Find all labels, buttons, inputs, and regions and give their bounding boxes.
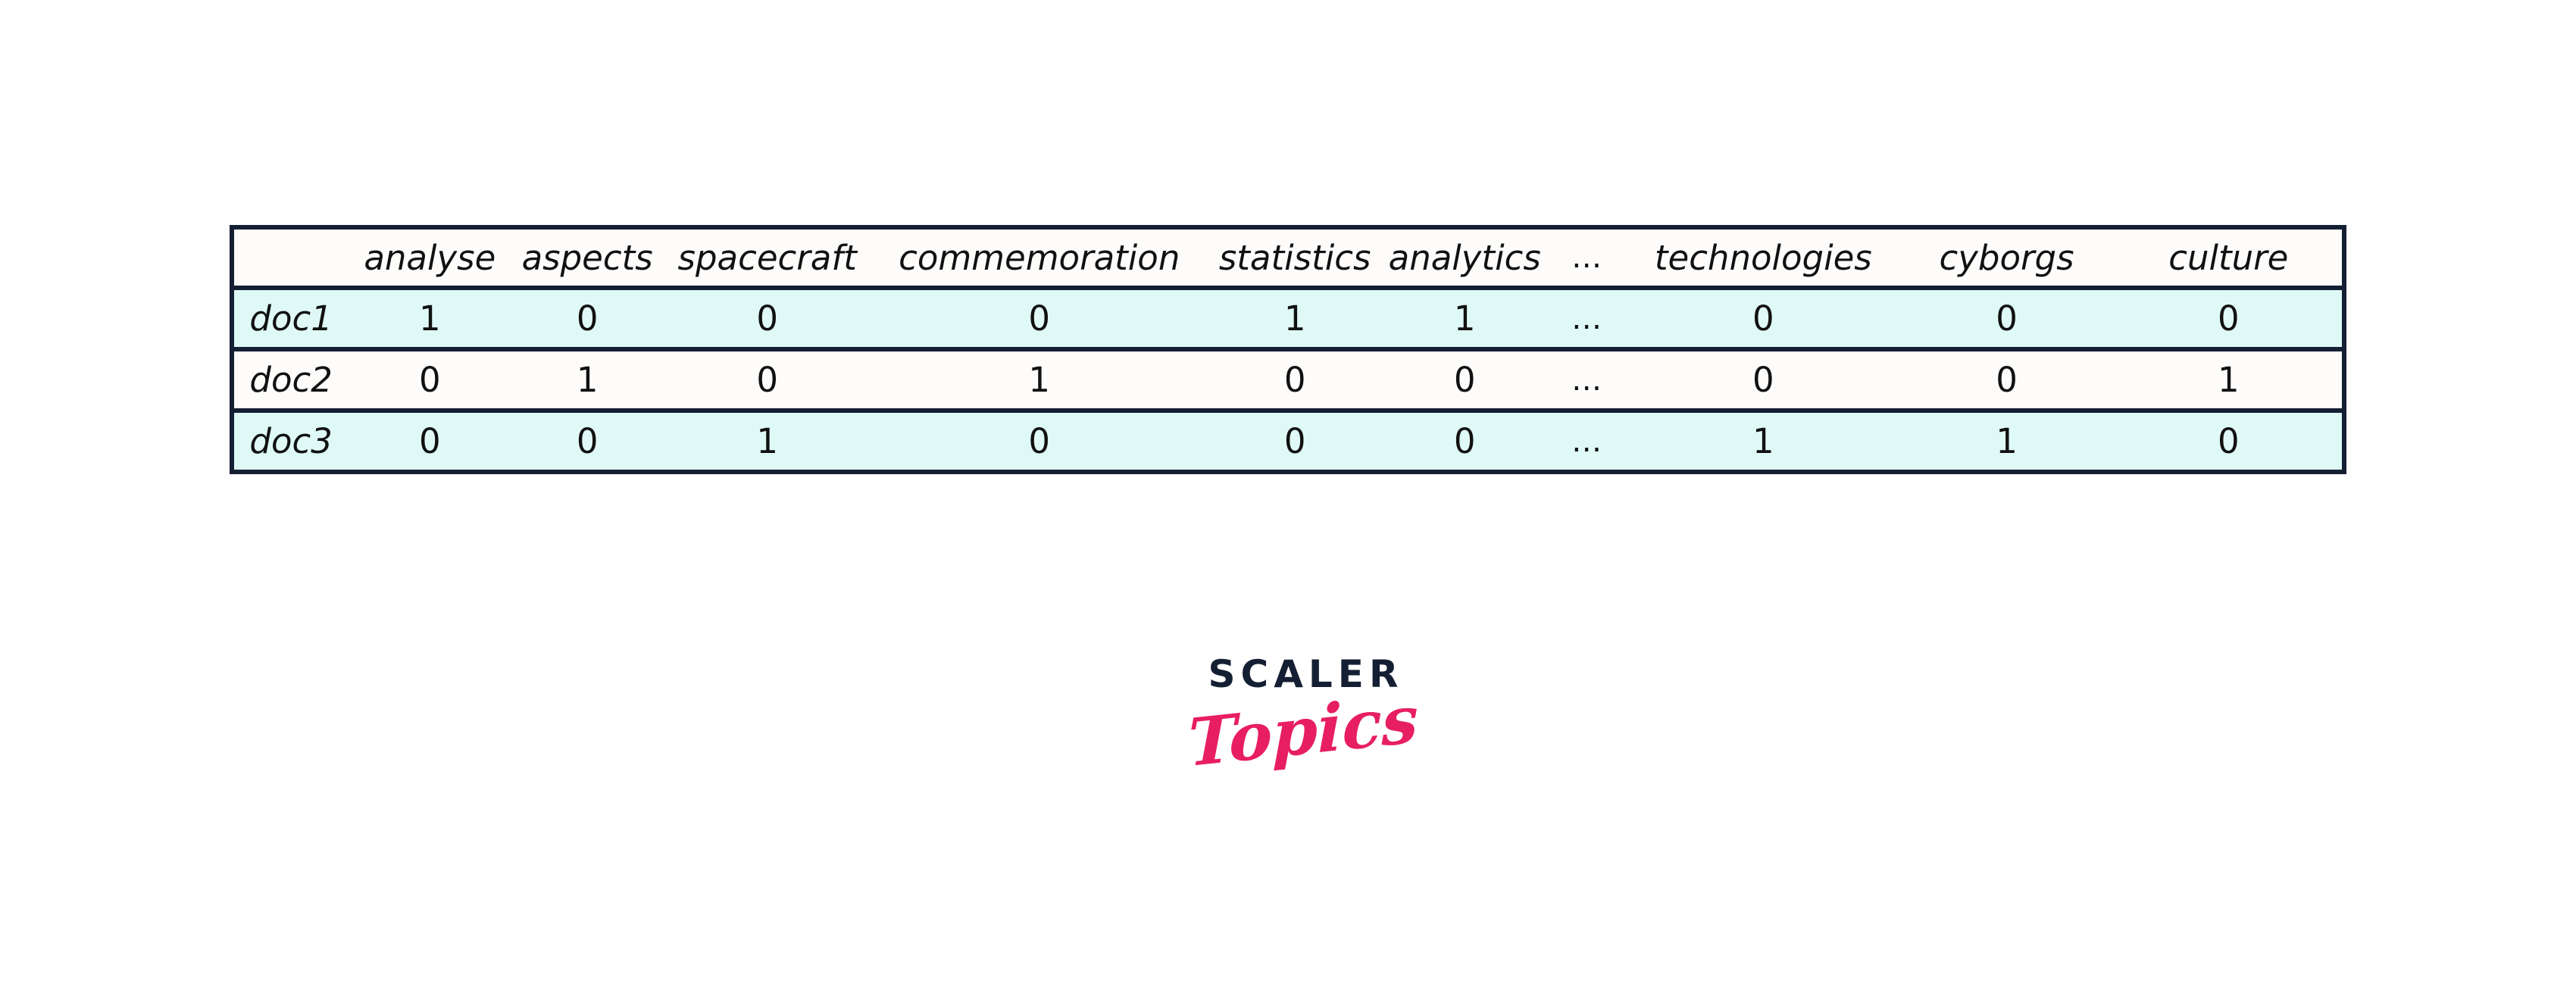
column-header-commemoration: commemoration bbox=[871, 227, 1207, 288]
table-row: doc1 1 0 0 0 1 1 … 0 0 0 bbox=[232, 288, 2344, 349]
cell-doc2-spacecraft: 0 bbox=[663, 349, 871, 411]
cell-doc2-technologies: 0 bbox=[1628, 349, 1898, 411]
cell-doc1-analyse: 1 bbox=[348, 288, 511, 349]
column-header-culture: culture bbox=[2115, 227, 2344, 288]
table-header-row: analyse aspects spacecraft commemoration… bbox=[232, 227, 2344, 288]
table-row: doc2 0 1 0 1 0 0 … 0 0 1 bbox=[232, 349, 2344, 411]
cell-doc2-analytics: 0 bbox=[1383, 349, 1546, 411]
cell-doc2-culture: 1 bbox=[2115, 349, 2344, 411]
cell-doc3-commemoration: 0 bbox=[871, 411, 1207, 472]
cell-doc2-aspects: 1 bbox=[511, 349, 663, 411]
cell-doc3-ellipsis: … bbox=[1546, 411, 1628, 472]
cell-doc2-cyborgs: 0 bbox=[1898, 349, 2115, 411]
column-header-technologies: technologies bbox=[1628, 227, 1898, 288]
cell-doc3-cyborgs: 1 bbox=[1898, 411, 2115, 472]
cell-doc1-analytics: 1 bbox=[1383, 288, 1546, 349]
cell-doc2-statistics: 0 bbox=[1207, 349, 1383, 411]
cell-doc1-aspects: 0 bbox=[511, 288, 663, 349]
column-header-analytics: analytics bbox=[1383, 227, 1546, 288]
cell-doc1-technologies: 0 bbox=[1628, 288, 1898, 349]
cell-doc1-spacecraft: 0 bbox=[663, 288, 871, 349]
document-term-matrix: analyse aspects spacecraft commemoration… bbox=[230, 225, 2346, 474]
cell-doc1-statistics: 1 bbox=[1207, 288, 1383, 349]
cell-doc2-ellipsis: … bbox=[1546, 349, 1628, 411]
column-header-analyse: analyse bbox=[348, 227, 511, 288]
row-label-doc3: doc3 bbox=[232, 411, 348, 472]
row-label-doc2: doc2 bbox=[232, 349, 348, 411]
column-header-statistics: statistics bbox=[1207, 227, 1383, 288]
scaler-topics-logo: SCALER Topics bbox=[1182, 655, 1424, 764]
cell-doc1-commemoration: 0 bbox=[871, 288, 1207, 349]
cell-doc2-analyse: 0 bbox=[348, 349, 511, 411]
cell-doc1-cyborgs: 0 bbox=[1898, 288, 2115, 349]
cell-doc3-statistics: 0 bbox=[1207, 411, 1383, 472]
cell-doc3-spacecraft: 1 bbox=[663, 411, 871, 472]
cell-doc2-commemoration: 1 bbox=[871, 349, 1207, 411]
column-header-cyborgs: cyborgs bbox=[1898, 227, 2115, 288]
logo-script: Topics bbox=[1183, 686, 1424, 777]
column-header-spacecraft: spacecraft bbox=[663, 227, 871, 288]
dtm-table: analyse aspects spacecraft commemoration… bbox=[230, 225, 2346, 474]
cell-doc3-aspects: 0 bbox=[511, 411, 663, 472]
cell-doc3-culture: 0 bbox=[2115, 411, 2344, 472]
column-header-aspects: aspects bbox=[511, 227, 663, 288]
cell-doc3-analytics: 0 bbox=[1383, 411, 1546, 472]
corner-cell bbox=[232, 227, 348, 288]
cell-doc1-ellipsis: … bbox=[1546, 288, 1628, 349]
cell-doc3-analyse: 0 bbox=[348, 411, 511, 472]
cell-doc1-culture: 0 bbox=[2115, 288, 2344, 349]
row-label-doc1: doc1 bbox=[232, 288, 348, 349]
table-row: doc3 0 0 1 0 0 0 … 1 1 0 bbox=[232, 411, 2344, 472]
column-header-ellipsis: … bbox=[1546, 227, 1628, 288]
cell-doc3-technologies: 1 bbox=[1628, 411, 1898, 472]
